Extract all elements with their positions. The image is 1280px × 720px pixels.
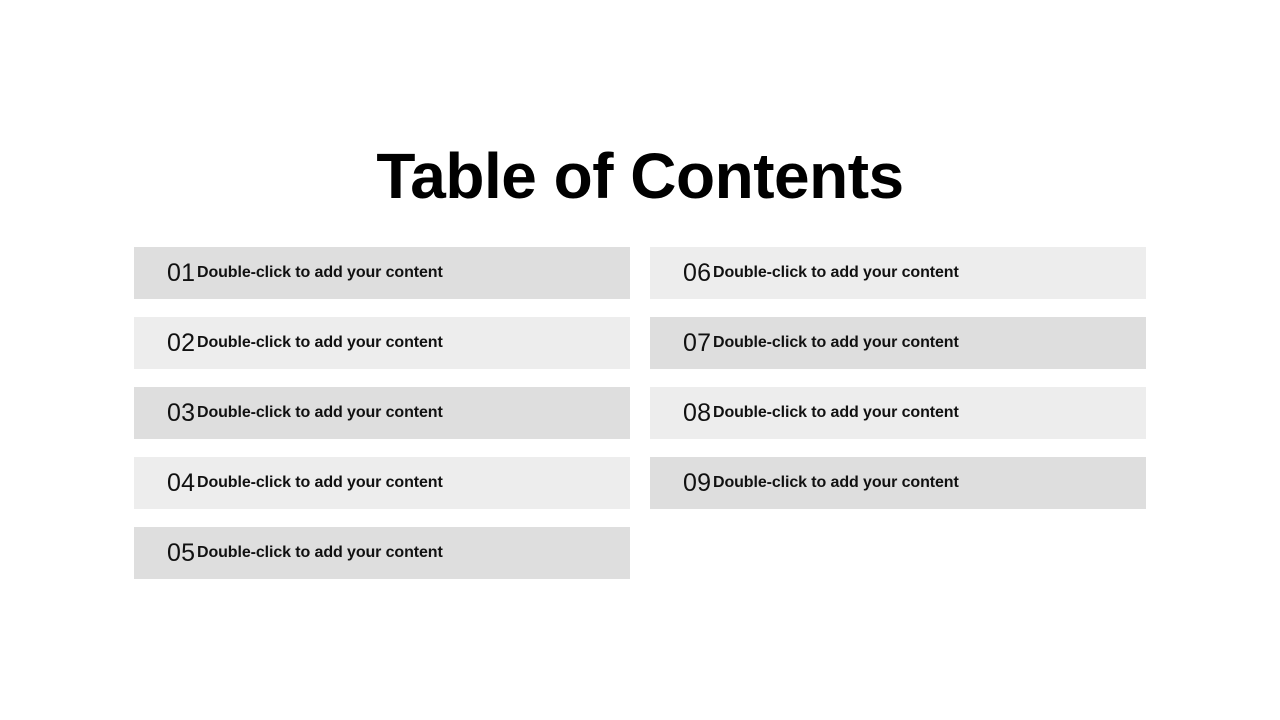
toc-item-09[interactable]: 09 Double-click to add your content <box>650 457 1146 509</box>
toc-item-03[interactable]: 03 Double-click to add your content <box>134 387 630 439</box>
page-title: Table of Contents <box>0 139 1280 213</box>
toc-item-number: 04 <box>134 471 196 496</box>
toc-item-label[interactable]: Double-click to add your content <box>196 405 443 421</box>
toc-item-label[interactable]: Double-click to add your content <box>712 335 959 351</box>
toc-item-label[interactable]: Double-click to add your content <box>712 265 959 281</box>
toc-item-08[interactable]: 08 Double-click to add your content <box>650 387 1146 439</box>
toc-item-number: 05 <box>134 541 196 566</box>
toc-item-number: 08 <box>650 401 712 426</box>
toc-item-label[interactable]: Double-click to add your content <box>712 475 959 491</box>
slide-canvas: Table of Contents 01 Double-click to add… <box>0 0 1280 720</box>
toc-item-label[interactable]: Double-click to add your content <box>196 475 443 491</box>
right-column: 06 Double-click to add your content 07 D… <box>650 247 1146 579</box>
toc-item-number: 03 <box>134 401 196 426</box>
toc-item-label[interactable]: Double-click to add your content <box>196 335 443 351</box>
toc-item-number: 06 <box>650 261 712 286</box>
toc-item-label[interactable]: Double-click to add your content <box>196 545 443 561</box>
toc-item-07[interactable]: 07 Double-click to add your content <box>650 317 1146 369</box>
toc-item-04[interactable]: 04 Double-click to add your content <box>134 457 630 509</box>
toc-item-number: 01 <box>134 261 196 286</box>
toc-item-02[interactable]: 02 Double-click to add your content <box>134 317 630 369</box>
left-column: 01 Double-click to add your content 02 D… <box>134 247 630 579</box>
toc-item-06[interactable]: 06 Double-click to add your content <box>650 247 1146 299</box>
toc-item-number: 09 <box>650 471 712 496</box>
toc-item-label[interactable]: Double-click to add your content <box>712 405 959 421</box>
toc-item-05[interactable]: 05 Double-click to add your content <box>134 527 630 579</box>
toc-item-number: 07 <box>650 331 712 356</box>
toc-item-number: 02 <box>134 331 196 356</box>
toc-item-01[interactable]: 01 Double-click to add your content <box>134 247 630 299</box>
toc-item-label[interactable]: Double-click to add your content <box>196 265 443 281</box>
table-of-contents-grid: 01 Double-click to add your content 02 D… <box>134 247 1146 579</box>
